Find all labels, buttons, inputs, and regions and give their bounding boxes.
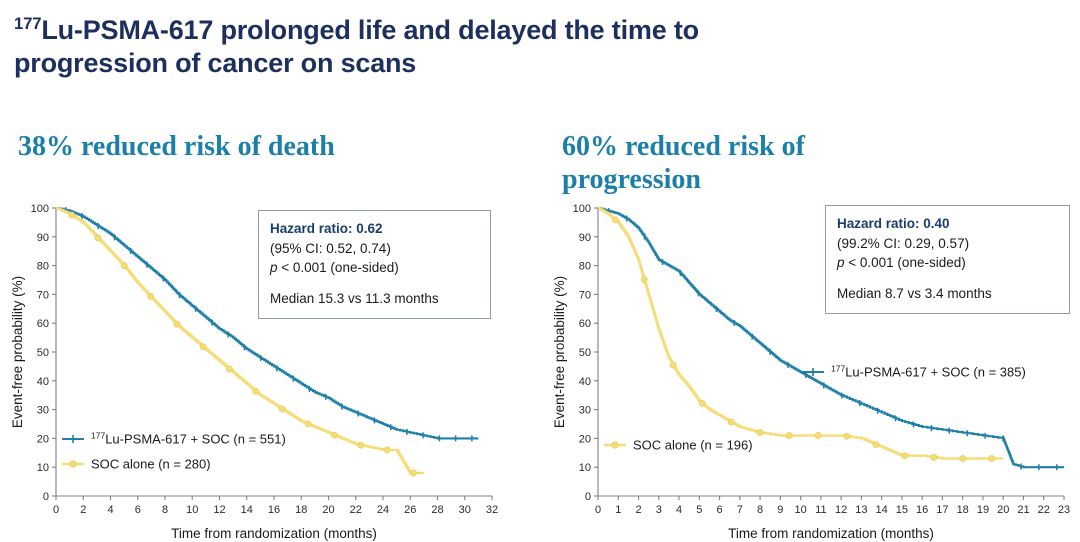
y-tick-label: 30	[37, 405, 49, 417]
censor-marker	[786, 432, 792, 438]
y-tick-label: 20	[37, 433, 49, 445]
slide-root: 177Lu-PSMA-617 prolonged life and delaye…	[0, 0, 1080, 542]
x-tick-label: 30	[459, 504, 471, 516]
x-tick-label: 32	[486, 504, 498, 516]
censor-marker	[728, 419, 734, 425]
title-superscript: 177	[14, 14, 41, 33]
x-tick-label: 22	[350, 504, 362, 516]
y-tick-label: 100	[573, 203, 591, 215]
title-line-1: Lu-PSMA-617 prolonged life and delayed t…	[41, 15, 699, 45]
page-title: 177Lu-PSMA-617 prolonged life and delaye…	[14, 14, 734, 80]
y-tick-label: 50	[579, 347, 591, 359]
x-tick-label: 24	[377, 504, 389, 516]
x-tick-label: 0	[595, 504, 601, 516]
y-tick-label: 60	[37, 318, 49, 330]
y-tick-label: 70	[37, 289, 49, 301]
legend-label-text: SOC alone (n = 196)	[633, 438, 753, 453]
x-tick-label: 16	[268, 504, 280, 516]
legend-label-text: SOC alone (n = 280)	[91, 457, 211, 472]
censor-marker	[844, 433, 850, 439]
censor-marker	[989, 456, 995, 462]
censor-marker	[331, 432, 337, 438]
x-tick-label: 6	[717, 504, 723, 516]
y-tick-label: 0	[585, 491, 591, 503]
censor-marker	[641, 277, 647, 283]
y-tick-label: 90	[579, 232, 591, 244]
censor-marker	[253, 388, 259, 394]
km-plot-progression: 0102030405060708090100012345678910111213…	[540, 198, 1080, 542]
panel-heading-progression: 60% reduced risk of progression	[562, 130, 862, 196]
x-axis-title: Time from randomization (months)	[171, 526, 377, 541]
x-tick-label: 17	[936, 504, 948, 516]
y-tick-label: 40	[579, 376, 591, 388]
x-tick-label: 15	[896, 504, 908, 516]
censor-marker	[815, 432, 821, 438]
x-tick-label: 8	[757, 504, 763, 516]
censor-marker	[279, 406, 285, 412]
legend-label: 177Lu-PSMA-617 + SOC (n = 385)	[831, 364, 1026, 380]
legend-item: 177Lu-PSMA-617 + SOC (n = 385)	[802, 364, 1026, 380]
legend-label-text: Lu-PSMA-617 + SOC (n = 385)	[845, 365, 1026, 380]
censor-marker	[902, 453, 908, 459]
chart-overall-survival: 0102030405060708090100024681012141618202…	[0, 198, 540, 542]
y-tick-label: 20	[579, 433, 591, 445]
x-tick-label: 4	[107, 504, 113, 516]
x-tick-label: 7	[737, 504, 743, 516]
x-tick-label: 0	[53, 504, 59, 516]
legend-label: SOC alone (n = 196)	[633, 438, 753, 453]
x-tick-label: 20	[322, 504, 334, 516]
legend-label: SOC alone (n = 280)	[91, 457, 211, 472]
x-axis-title: Time from randomization (months)	[728, 526, 934, 541]
censor-marker	[121, 263, 127, 269]
x-tick-label: 19	[977, 504, 989, 516]
x-tick-label: 12	[835, 504, 847, 516]
panel-heading-overall-survival: 38% reduced risk of death	[18, 130, 488, 163]
censor-marker	[699, 400, 705, 406]
x-tick-label: 13	[855, 504, 867, 516]
x-tick-label: 20	[997, 504, 1009, 516]
x-tick-label: 11	[815, 504, 826, 516]
x-tick-label: 2	[80, 504, 86, 516]
curve-control	[598, 208, 1003, 459]
x-tick-label: 3	[656, 504, 662, 516]
y-tick-label: 30	[579, 405, 591, 417]
x-tick-label: 4	[676, 504, 682, 516]
x-tick-label: 22	[1038, 504, 1050, 516]
x-tick-label: 10	[794, 504, 806, 516]
x-tick-label: 23	[1058, 504, 1070, 516]
censor-marker	[200, 344, 206, 350]
x-tick-label: 9	[777, 504, 783, 516]
legend-superscript: 177	[91, 431, 105, 441]
y-tick-label: 40	[37, 376, 49, 388]
x-tick-label: 8	[162, 504, 168, 516]
censor-marker	[670, 362, 676, 368]
y-axis-title: Event-free probability (%)	[552, 276, 567, 428]
x-tick-label: 21	[1017, 504, 1029, 516]
y-tick-label: 60	[579, 318, 591, 330]
legend-circle-icon	[70, 461, 77, 468]
censor-marker	[384, 447, 390, 453]
x-tick-label: 5	[696, 504, 702, 516]
y-tick-label: 70	[579, 289, 591, 301]
censor-marker	[174, 321, 180, 327]
legend-item: 177Lu-PSMA-617 + SOC (n = 551)	[62, 431, 286, 447]
censor-marker	[226, 366, 232, 372]
censor-marker	[410, 470, 416, 476]
chart-progression-free-survival: 0102030405060708090100012345678910111213…	[540, 198, 1080, 542]
panel-overall-survival: 38% reduced risk of death Hazard ratio: …	[0, 120, 540, 542]
x-tick-label: 12	[213, 504, 225, 516]
x-tick-label: 10	[186, 504, 198, 516]
legend-circle-icon	[612, 442, 619, 449]
x-tick-label: 28	[431, 504, 443, 516]
censor-marker	[612, 217, 618, 223]
y-tick-label: 80	[579, 261, 591, 273]
y-tick-label: 10	[579, 462, 591, 474]
x-tick-label: 16	[916, 504, 928, 516]
censor-marker	[69, 212, 75, 218]
y-tick-label: 100	[31, 203, 49, 215]
curve-treatment	[598, 208, 1064, 467]
legend-item: SOC alone (n = 280)	[62, 457, 211, 472]
y-tick-label: 80	[37, 261, 49, 273]
x-tick-label: 26	[404, 504, 416, 516]
x-tick-label: 1	[615, 504, 621, 516]
panel-progression-free-survival: 60% reduced risk of progression Hazard r…	[540, 120, 1080, 542]
y-tick-label: 0	[43, 491, 49, 503]
censor-marker	[95, 235, 101, 241]
censor-marker	[148, 293, 154, 299]
x-tick-label: 18	[295, 504, 307, 516]
censor-marker	[873, 442, 879, 448]
legend-item: SOC alone (n = 196)	[604, 438, 753, 453]
legend-label-text: Lu-PSMA-617 + SOC (n = 551)	[105, 432, 286, 447]
title-line-2: progression of cancer on scans	[14, 48, 416, 78]
censor-marker	[757, 430, 763, 436]
x-tick-label: 14	[876, 504, 888, 516]
censor-marker	[305, 421, 311, 427]
censor-marker	[358, 442, 364, 448]
y-tick-label: 90	[37, 232, 49, 244]
x-tick-label: 14	[241, 504, 253, 516]
censor-marker	[960, 456, 966, 462]
x-tick-label: 6	[135, 504, 141, 516]
curve-treatment	[56, 208, 478, 438]
x-tick-label: 2	[635, 504, 641, 516]
km-plot-overall-survival: 0102030405060708090100024681012141618202…	[0, 198, 540, 542]
x-tick-label: 18	[957, 504, 969, 516]
legend-label: 177Lu-PSMA-617 + SOC (n = 551)	[91, 431, 286, 447]
y-tick-label: 10	[37, 462, 49, 474]
y-axis-title: Event-free probability (%)	[10, 276, 25, 428]
censor-marker	[931, 454, 937, 460]
legend-superscript: 177	[831, 364, 845, 374]
y-tick-label: 50	[37, 347, 49, 359]
